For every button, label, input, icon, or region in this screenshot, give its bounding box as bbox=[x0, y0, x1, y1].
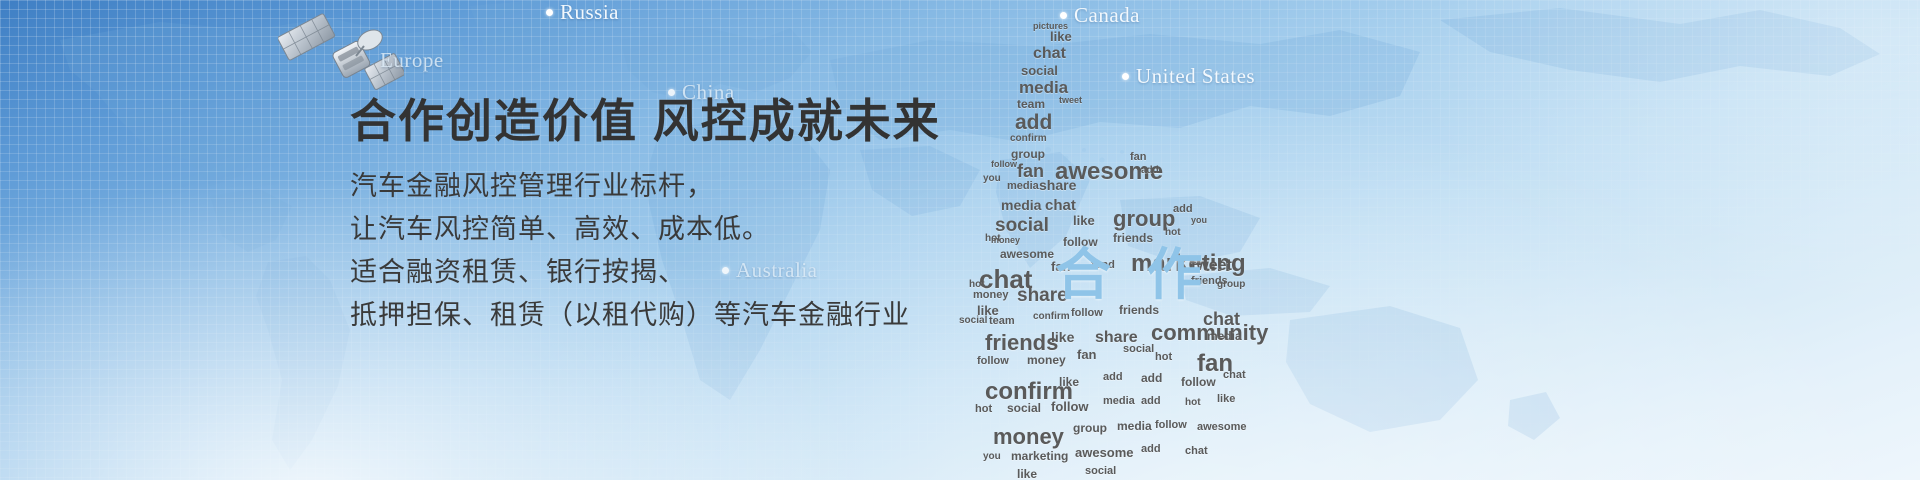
map-label-dot bbox=[1122, 73, 1129, 80]
cloud-word: add bbox=[1141, 444, 1161, 455]
hero-copy: 合作创造价值 风控成就未来 汽车金融风控管理行业标杆， 让汽车风控简单、高效、成… bbox=[350, 96, 1070, 337]
hero-subtext: 汽车金融风控管理行业标杆， 让汽车风控简单、高效、成本低。 适合融资租赁、银行按… bbox=[350, 165, 1070, 337]
cloud-word: follow bbox=[1155, 420, 1187, 431]
cloud-word: like bbox=[1073, 214, 1095, 227]
cloud-word: hot bbox=[975, 404, 992, 415]
hero-subtext-line: 适合融资租赁、银行按揭、 bbox=[350, 251, 1070, 294]
cloud-word: fan bbox=[1130, 152, 1147, 163]
cloud-word: social bbox=[1085, 466, 1116, 477]
cloud-word: add bbox=[1173, 204, 1193, 215]
map-label-russia: Russia bbox=[546, 0, 619, 25]
map-label-canada: Canada bbox=[1060, 3, 1140, 28]
cloud-word: social bbox=[1123, 344, 1154, 355]
cloud-word: group bbox=[1113, 208, 1175, 230]
cloud-word: media bbox=[1207, 330, 1242, 342]
cloud-overlay-text: 合 作 bbox=[1055, 230, 1213, 311]
map-label-text: Russia bbox=[560, 0, 619, 25]
cloud-word: fan bbox=[1077, 348, 1097, 361]
cloud-word: fan bbox=[1197, 352, 1233, 376]
cloud-word: money bbox=[1027, 354, 1066, 366]
cloud-word: community bbox=[1151, 322, 1268, 344]
hero-banner: Russia Europe China Canada United States… bbox=[0, 0, 1920, 480]
page-title: 合作创造价值 风控成就未来 bbox=[350, 96, 1070, 147]
map-label-text: Europe bbox=[380, 48, 444, 73]
cloud-word: group bbox=[1073, 422, 1107, 434]
cloud-word: add bbox=[1141, 166, 1159, 176]
cloud-word: like bbox=[1059, 376, 1079, 388]
map-label-europe: Europe bbox=[380, 48, 444, 73]
cloud-word: follow bbox=[1051, 400, 1089, 413]
hero-subtext-line: 抵押担保、租赁（以租代购）等汽车金融行业 bbox=[350, 294, 1070, 337]
cloud-word: social bbox=[1007, 402, 1041, 414]
cloud-word: chat bbox=[1203, 310, 1240, 328]
cloud-word: confirm bbox=[985, 380, 1073, 404]
map-label-dot bbox=[546, 9, 553, 16]
cloud-word: like bbox=[1050, 30, 1072, 43]
cloud-word: like bbox=[1017, 468, 1037, 480]
cloud-word: hot bbox=[1155, 352, 1172, 363]
cloud-word: chat bbox=[1223, 370, 1246, 381]
cloud-word: you bbox=[1191, 216, 1207, 225]
cloud-word: media bbox=[1103, 396, 1135, 407]
cloud-word: hot bbox=[1185, 398, 1201, 408]
cloud-word: media bbox=[1117, 420, 1152, 432]
map-label-dot bbox=[1060, 12, 1067, 19]
cloud-word: follow bbox=[977, 356, 1009, 367]
cloud-word: awesome bbox=[1055, 160, 1163, 184]
cloud-word: group bbox=[1217, 280, 1245, 290]
cloud-word: social bbox=[1021, 64, 1058, 77]
cloud-word: follow bbox=[1181, 376, 1216, 388]
cloud-word: marketing bbox=[1011, 450, 1068, 462]
cloud-word: chat bbox=[1185, 446, 1208, 457]
hero-subtext-line: 让汽车风控简单、高效、成本低。 bbox=[350, 208, 1070, 251]
map-label-text: Canada bbox=[1074, 3, 1140, 28]
cloud-word: chat bbox=[1033, 46, 1066, 62]
cloud-word: add bbox=[1141, 372, 1162, 384]
cloud-word: add bbox=[1141, 396, 1161, 407]
cloud-word: media bbox=[1019, 79, 1068, 96]
cloud-word: add bbox=[1103, 372, 1123, 383]
cloud-word: awesome bbox=[1197, 422, 1247, 433]
cloud-word: like bbox=[1217, 394, 1235, 405]
cloud-word: share bbox=[1095, 330, 1138, 346]
cloud-word: awesome bbox=[1075, 446, 1134, 459]
cloud-word: you bbox=[983, 452, 1001, 462]
map-label-text: United States bbox=[1136, 64, 1255, 89]
cloud-word: money bbox=[993, 426, 1064, 448]
map-label-united-states: United States bbox=[1122, 64, 1255, 89]
hero-subtext-line: 汽车金融风控管理行业标杆， bbox=[350, 165, 1070, 208]
